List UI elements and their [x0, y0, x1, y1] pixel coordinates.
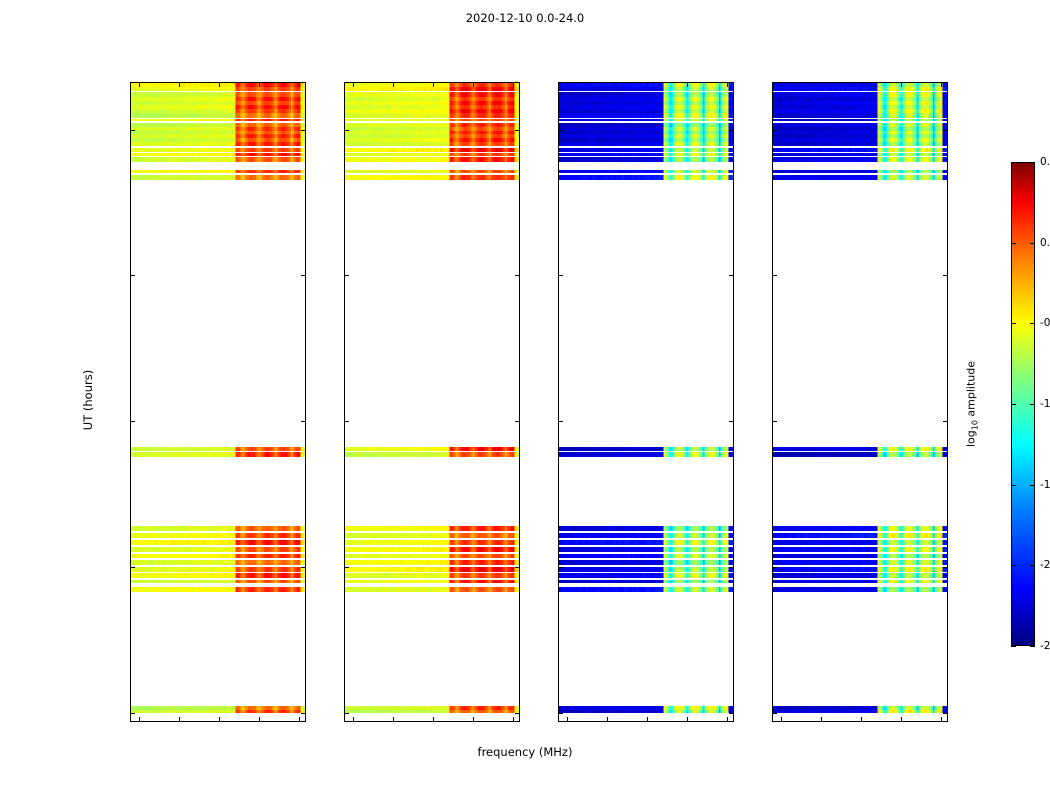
scan-row — [345, 547, 519, 552]
colorbar-tick-mark — [1011, 565, 1016, 566]
x-tick-mark — [513, 717, 514, 721]
x-tick-mark — [179, 83, 180, 87]
scan-row — [559, 573, 733, 578]
scan-row — [559, 710, 733, 714]
x-tick-mark — [139, 83, 140, 87]
colorbar-label: log10 amplitude — [964, 361, 979, 447]
y-tick-mark — [943, 275, 947, 276]
colorbar-tick-mark — [1030, 323, 1035, 324]
waterfall-xy — [559, 83, 733, 721]
colorbar-tick-mark — [1011, 162, 1016, 163]
y-tick-mark — [773, 713, 777, 714]
colorbar-label-main: log — [964, 430, 977, 447]
y-tick-mark — [773, 275, 777, 276]
y-tick-mark — [345, 275, 349, 276]
scan-row — [345, 580, 519, 584]
scan-row — [131, 153, 305, 156]
scan-row — [131, 170, 305, 173]
scan-row — [559, 119, 733, 122]
x-axis-label: frequency (MHz) — [0, 745, 1050, 759]
x-tick-mark — [433, 717, 434, 721]
colorbar-tick-mark — [1011, 404, 1016, 405]
scan-row — [559, 580, 733, 584]
scan-row — [773, 170, 947, 173]
y-tick-mark — [515, 567, 519, 568]
scan-row — [131, 540, 305, 546]
colorbar-label-sub: 10 — [971, 420, 980, 430]
colorbar-tick-mark — [1030, 565, 1035, 566]
scan-row — [345, 87, 519, 91]
scan-row — [559, 142, 733, 146]
scan-row — [131, 567, 305, 572]
colorbar-tick-mark — [1011, 243, 1016, 244]
colorbar-tick-label: -0.5 — [1040, 317, 1050, 329]
x-tick-mark — [219, 717, 220, 721]
scan-row — [131, 533, 305, 539]
scan-row — [559, 540, 733, 546]
scan-row — [559, 547, 733, 552]
x-tick-mark — [353, 717, 354, 721]
y-tick-mark — [131, 567, 135, 568]
x-tick-mark — [473, 717, 474, 721]
scan-row — [773, 142, 947, 146]
colorbar-tick-label: -1.0 — [1040, 398, 1050, 410]
y-tick-mark — [729, 567, 733, 568]
scan-row — [559, 560, 733, 565]
x-tick-mark — [299, 83, 300, 87]
x-tick-mark — [567, 83, 568, 87]
x-tick-mark — [647, 83, 648, 87]
y-tick-mark — [515, 275, 519, 276]
x-tick-mark — [513, 83, 514, 87]
y-tick-mark — [943, 567, 947, 568]
y-tick-mark — [515, 713, 519, 714]
scan-row — [773, 447, 947, 451]
y-tick-mark — [345, 567, 349, 568]
x-tick-mark — [687, 717, 688, 721]
scan-row — [773, 573, 947, 578]
y-tick-mark — [515, 421, 519, 422]
scan-row — [773, 452, 947, 457]
panel-yx[interactable]: YX, V16=EA2705101520320335350365380 — [772, 82, 948, 722]
scan-row — [345, 710, 519, 714]
y-tick-mark — [943, 130, 947, 131]
scan-row — [345, 452, 519, 457]
scan-row — [345, 560, 519, 565]
x-tick-mark — [821, 83, 822, 87]
scan-row — [131, 452, 305, 457]
figure-title: 2020-12-10 0.0-24.0 — [0, 11, 1050, 25]
scan-row — [773, 580, 947, 584]
x-tick-mark — [901, 717, 902, 721]
x-tick-mark — [139, 717, 140, 721]
y-tick-mark — [773, 567, 777, 568]
scan-row — [345, 567, 519, 572]
y-tick-mark — [131, 713, 135, 714]
y-tick-mark — [559, 421, 563, 422]
colorbar-tick-mark — [1011, 485, 1016, 486]
scan-row — [559, 87, 733, 91]
panel-yy[interactable]: YY, V16=EA2705101520320335350365380 — [344, 82, 520, 722]
panel-xy[interactable]: XY, V16=EA2705101520320335350365380 — [558, 82, 734, 722]
x-tick-mark — [259, 83, 260, 87]
y-tick-mark — [131, 421, 135, 422]
x-tick-mark — [473, 83, 474, 87]
y-tick-mark — [301, 567, 305, 568]
scan-row — [131, 526, 305, 531]
colorbar-tick-label: 0.0 — [1040, 237, 1050, 249]
scan-row — [131, 580, 305, 584]
y-tick-mark — [301, 130, 305, 131]
scan-row — [559, 554, 733, 559]
colorbar-tick-label: 0.5 — [1040, 156, 1050, 168]
scan-row — [131, 554, 305, 559]
panel-xx[interactable]: XX, V16=EA2705101520320335350365380 — [130, 82, 306, 722]
scan-row — [131, 710, 305, 714]
scan-row — [559, 175, 733, 181]
scan-row — [131, 113, 305, 118]
x-tick-mark — [179, 717, 180, 721]
scan-row — [345, 153, 519, 156]
colorbar-label-tail: amplitude — [964, 361, 977, 420]
scan-row — [131, 560, 305, 565]
y-tick-mark — [515, 130, 519, 131]
scan-row — [773, 153, 947, 156]
figure-canvas: 2020-12-10 0.0-24.0 XX, V16=EA2705101520… — [0, 0, 1050, 800]
colorbar-tick-label: -1.5 — [1040, 479, 1050, 491]
x-tick-mark — [393, 717, 394, 721]
scan-row — [559, 533, 733, 539]
scan-row — [773, 540, 947, 546]
scan-row — [773, 157, 947, 162]
y-tick-mark — [943, 713, 947, 714]
x-tick-mark — [607, 83, 608, 87]
x-tick-mark — [781, 717, 782, 721]
waterfall-yy — [345, 83, 519, 721]
y-tick-mark — [773, 421, 777, 422]
y-tick-mark — [729, 130, 733, 131]
y-tick-mark — [943, 421, 947, 422]
scan-row — [131, 87, 305, 91]
scan-row — [559, 113, 733, 118]
y-tick-mark — [559, 713, 563, 714]
scan-row — [559, 452, 733, 457]
scan-row — [131, 573, 305, 578]
x-tick-mark — [781, 83, 782, 87]
scan-row — [559, 447, 733, 451]
x-tick-mark — [861, 717, 862, 721]
scan-row — [131, 157, 305, 162]
scan-row — [131, 547, 305, 552]
y-tick-mark — [301, 421, 305, 422]
x-tick-mark — [219, 83, 220, 87]
x-tick-mark — [353, 83, 354, 87]
scan-row — [345, 157, 519, 162]
scan-row — [773, 175, 947, 181]
colorbar-tick-mark — [1030, 243, 1035, 244]
colorbar-tick-mark — [1030, 485, 1035, 486]
scan-row — [345, 119, 519, 122]
y-tick-mark — [559, 275, 563, 276]
y-tick-mark — [345, 713, 349, 714]
x-tick-mark — [393, 83, 394, 87]
scan-row — [131, 447, 305, 451]
x-tick-mark — [941, 717, 942, 721]
scan-row — [773, 560, 947, 565]
y-tick-mark — [729, 421, 733, 422]
colorbar: 0.50.0-0.5-1.0-1.5-2.0-2.5 — [1011, 162, 1035, 646]
y-tick-mark — [559, 567, 563, 568]
x-tick-mark — [727, 717, 728, 721]
x-tick-mark — [259, 717, 260, 721]
x-tick-mark — [727, 83, 728, 87]
scan-row — [131, 587, 305, 592]
scan-row — [773, 119, 947, 122]
scan-row — [773, 113, 947, 118]
colorbar-tick-label: -2.5 — [1040, 640, 1050, 652]
scan-row — [559, 587, 733, 592]
scan-row — [345, 540, 519, 546]
x-tick-mark — [607, 717, 608, 721]
y-tick-mark — [773, 130, 777, 131]
y-tick-mark — [559, 130, 563, 131]
scan-row — [345, 175, 519, 181]
x-tick-mark — [299, 717, 300, 721]
scan-row — [559, 148, 733, 152]
scan-row — [131, 119, 305, 122]
colorbar-tick-mark — [1030, 162, 1035, 163]
scan-row — [345, 526, 519, 531]
y-tick-mark — [345, 130, 349, 131]
x-tick-mark — [861, 83, 862, 87]
x-tick-mark — [567, 717, 568, 721]
scan-row — [559, 153, 733, 156]
y-tick-mark — [301, 275, 305, 276]
colorbar-tick-mark — [1011, 323, 1016, 324]
y-tick-mark — [301, 713, 305, 714]
scan-row — [345, 113, 519, 118]
x-tick-mark — [941, 83, 942, 87]
colorbar-tick-mark — [1030, 404, 1035, 405]
scan-row — [345, 533, 519, 539]
scan-row — [559, 170, 733, 173]
scan-row — [773, 547, 947, 552]
scan-row — [345, 554, 519, 559]
scan-row — [131, 142, 305, 146]
scan-row — [345, 170, 519, 173]
scan-row — [773, 87, 947, 91]
scan-row — [345, 142, 519, 146]
scan-row — [773, 587, 947, 592]
scan-row — [559, 567, 733, 572]
x-tick-mark — [433, 83, 434, 87]
x-tick-mark — [901, 83, 902, 87]
colorbar-tick-mark — [1011, 646, 1016, 647]
x-tick-mark — [821, 717, 822, 721]
y-tick-mark — [345, 421, 349, 422]
scan-row — [345, 447, 519, 451]
scan-row — [345, 587, 519, 592]
scan-row — [345, 148, 519, 152]
waterfall-yx — [773, 83, 947, 721]
waterfall-xx — [131, 83, 305, 721]
scan-row — [773, 567, 947, 572]
scan-row — [773, 710, 947, 714]
colorbar-tick-mark — [1030, 646, 1035, 647]
colorbar-tick-label: -2.0 — [1040, 559, 1050, 571]
scan-row — [131, 148, 305, 152]
y-tick-mark — [131, 130, 135, 131]
y-tick-mark — [729, 713, 733, 714]
scan-row — [559, 157, 733, 162]
y-tick-mark — [131, 275, 135, 276]
y-axis-label: UT (hours) — [81, 370, 95, 430]
scan-row — [131, 175, 305, 181]
x-tick-mark — [647, 717, 648, 721]
scan-row — [773, 526, 947, 531]
scan-row — [773, 533, 947, 539]
scan-row — [559, 526, 733, 531]
y-tick-mark — [729, 275, 733, 276]
scan-row — [345, 573, 519, 578]
scan-row — [773, 148, 947, 152]
x-tick-mark — [687, 83, 688, 87]
scan-row — [773, 554, 947, 559]
